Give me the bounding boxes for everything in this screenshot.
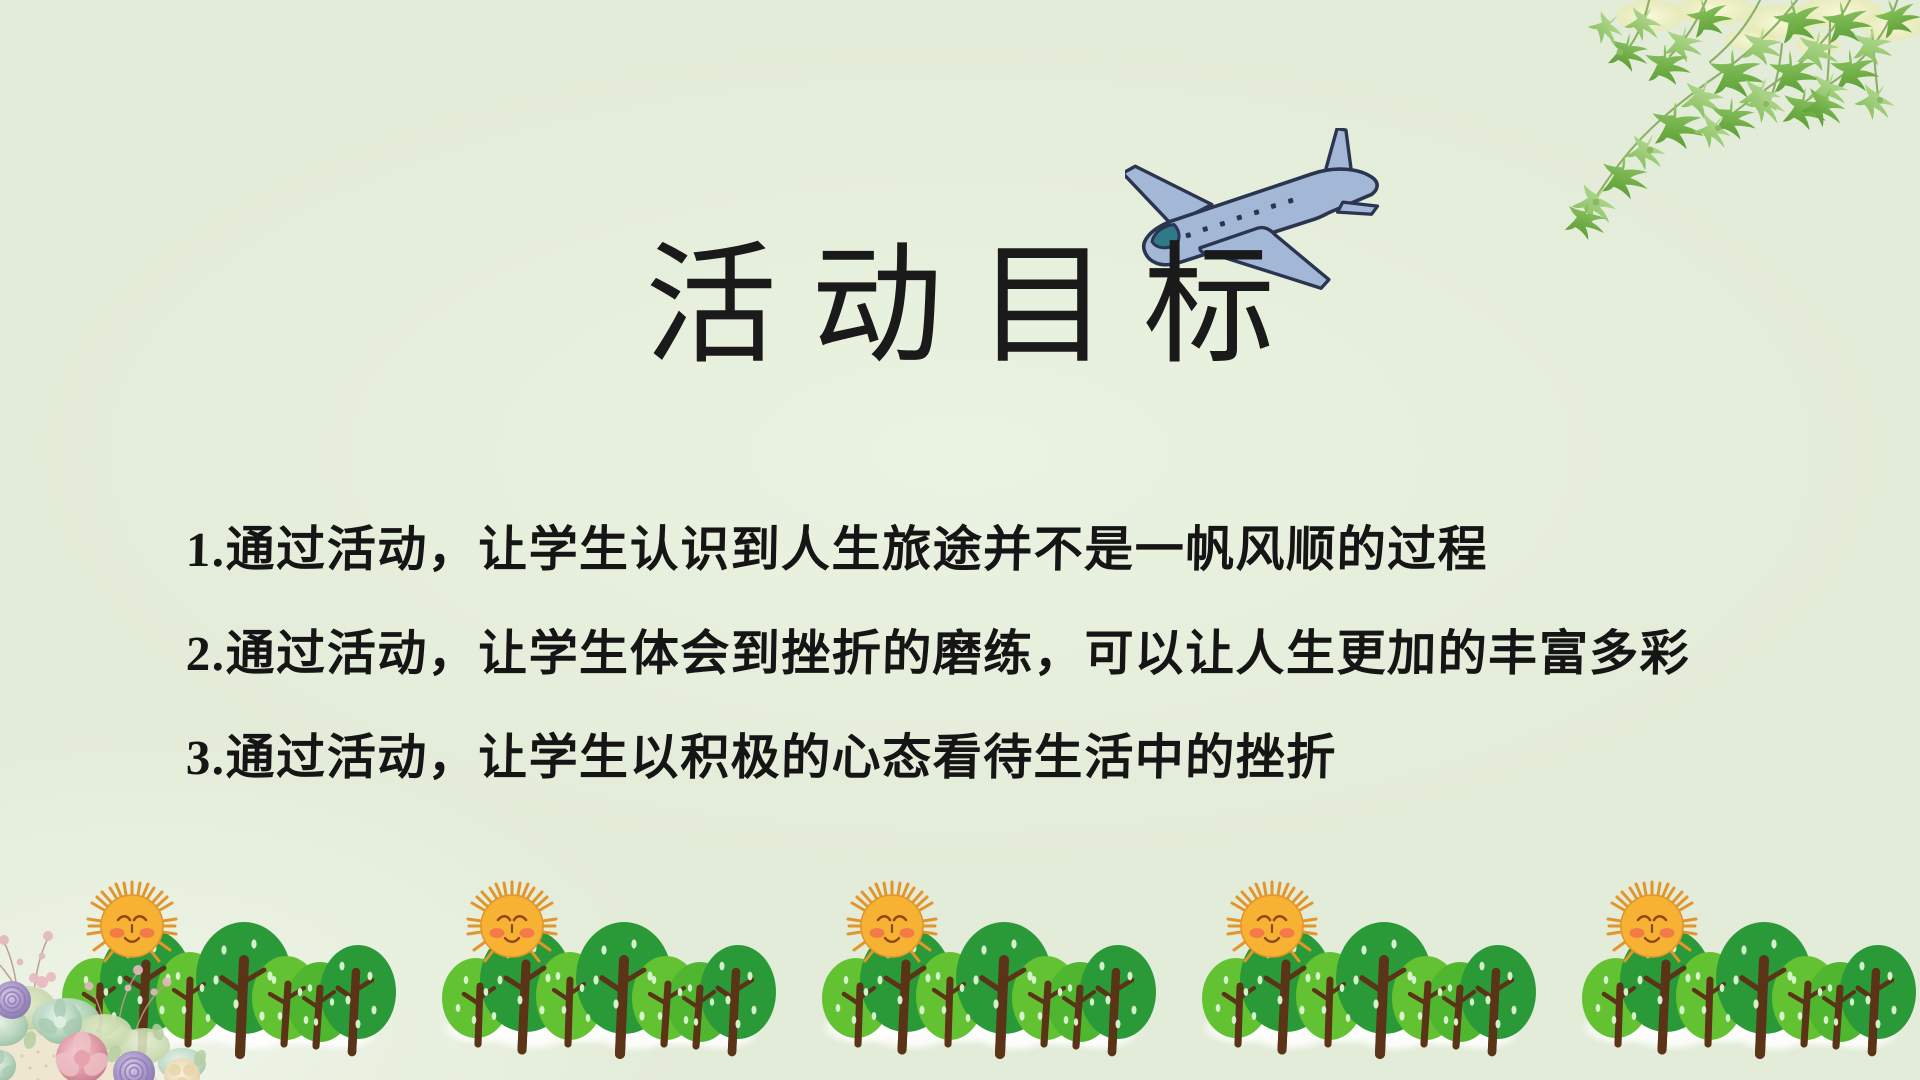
objective-item-2: 2.通过活动，让学生体会到挫折的磨练，可以让人生更加的丰富多彩 [185,602,1887,706]
tree-group [440,882,776,1054]
tree-group [820,882,1156,1054]
tree-row-icon [0,850,1920,1080]
objective-item-3: 3.通过活动，让学生以积极的心态看待生活中的挫折 [185,706,1887,810]
slide-canvas: 活动目标 1.通过活动，让学生认识到人生旅途并不是一帆风顺的过程 2.通过活动，… [0,0,1920,1080]
objectives-list: 1.通过活动，让学生认识到人生旅途并不是一帆风顺的过程 2.通过活动，让学生体会… [186,498,1886,810]
hanging-leaves-icon [1500,0,1920,250]
slide-title: 活动目标 [0,232,1920,382]
tree-group [1580,882,1916,1054]
tree-group [1200,882,1536,1054]
tree-group [60,882,396,1054]
objective-item-1: 1.通过活动，让学生认识到人生旅途并不是一帆风顺的过程 [185,498,1887,602]
